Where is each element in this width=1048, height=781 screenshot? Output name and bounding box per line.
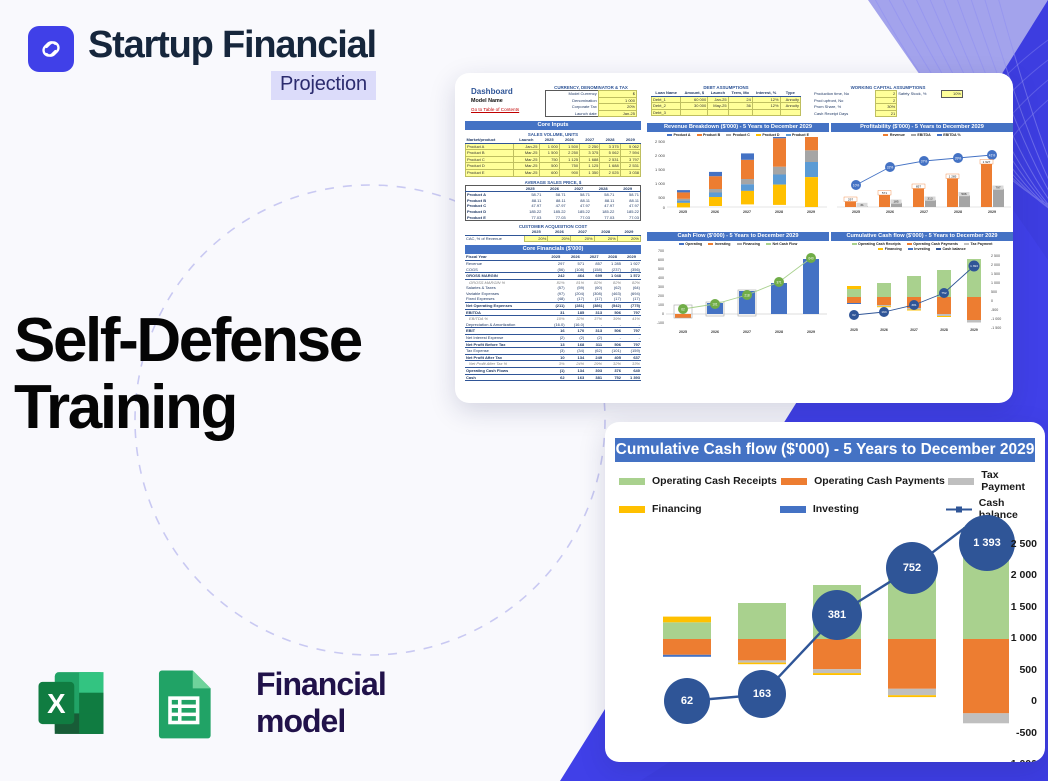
table-row: Product E 77.03 77.03 77.03 77.03 77.03 (466, 215, 641, 221)
chart-title: Cumulative Cash flow ($'000) - 5 Years t… (615, 438, 1035, 462)
svg-text:1 000: 1 000 (991, 281, 1000, 285)
cash-flow-title: Cash Flow ($'000) - 5 Years to December … (647, 232, 829, 241)
svg-text:2027: 2027 (743, 330, 751, 334)
table-row: Product D Mar-25 500 750 1 125 1 688 2 5… (466, 163, 641, 170)
table-cell: 797 (622, 309, 641, 316)
row-label: GROSS MARGIN (465, 273, 546, 280)
legend-swatch (619, 478, 645, 485)
table-cell: 1 048 (603, 273, 622, 280)
svg-text:2029: 2029 (807, 210, 815, 214)
brand-lockup: Startup Financial Projection (28, 26, 376, 100)
chart-plot-area: 62 163 381 752 1 393 2 500 2 000 1 500 1… (605, 527, 1045, 742)
svg-text:2 000: 2 000 (991, 263, 1000, 267)
svg-text:297: 297 (848, 197, 853, 201)
svg-text:2025: 2025 (679, 210, 687, 214)
table-row: Net Profit After Tax10134249405637 (465, 354, 641, 361)
microsoft-excel-icon: X (32, 664, 110, 742)
row-label: Net Profit After Tax % (465, 361, 546, 368)
row-label: Net Operating Expenses (465, 303, 546, 310)
table-cell: 405 (603, 354, 622, 361)
table-cell: (2) (566, 335, 586, 342)
table-cell: 31 (546, 309, 566, 316)
table-cell: 797 (622, 328, 641, 335)
table-cell: (2) (585, 335, 603, 342)
brand-title: Startup Financial (88, 26, 376, 64)
table-cell: (211) (546, 303, 566, 310)
table-cell: 313 (585, 328, 603, 335)
core-financials-table: Fiscal Year20252026202720282029Revenue29… (465, 254, 641, 381)
currency-assumptions-table: Model Currency$ Denomination1 000 Corpor… (545, 90, 637, 117)
table-cell: 16 (546, 328, 566, 335)
core-inputs-band: Core Inputs (465, 121, 641, 130)
svg-text:10%: 10% (853, 183, 860, 187)
bar-group-2025 (663, 617, 711, 657)
row-label: Net Interest Expense (465, 335, 546, 342)
table-cell: 699 (585, 273, 603, 280)
table-cell: 506 (603, 328, 622, 335)
left-content-column: Startup Financial Projection Self-Defens… (0, 0, 470, 781)
table-row: Model Currency$ (546, 91, 637, 98)
y-axis-labels: 2 500 2 000 1 500 1 000 500 0 -500 -1 00… (985, 527, 1039, 742)
core-financials-band: Core Financials ($'000) (465, 245, 641, 254)
svg-text:1 285: 1 285 (949, 174, 957, 178)
data-marker-2026: 163 (738, 670, 786, 718)
svg-text:1 500: 1 500 (991, 272, 1000, 276)
table-header-row: 2025 2026 2027 2028 2029 (466, 185, 641, 192)
table-cell: 32% (603, 361, 622, 368)
table-row: Tax Expense(3)(34)(62)(101)(159) (465, 348, 641, 355)
table-cell: 640 (622, 368, 641, 375)
table-cell: 10 (546, 354, 566, 361)
table-row: EBITDA31185313506797 (465, 309, 641, 316)
svg-text:700: 700 (658, 249, 664, 253)
svg-text:2 500: 2 500 (655, 139, 666, 144)
svg-text:300: 300 (658, 285, 664, 289)
working-capital-table: Production time, No 2 Safety Stock, % 10… (813, 90, 963, 117)
svg-text:0: 0 (663, 205, 666, 210)
format-label: Financial model (256, 666, 470, 740)
legend-item-financing: Financing (619, 497, 780, 521)
cumulative-cash-flow-card[interactable]: Cumulative Cash flow ($'000) - 5 Years t… (605, 422, 1045, 762)
cumulative-cash-flow-title: Cumulative Cash flow ($'000) - 5 Years t… (831, 232, 1013, 241)
svg-text:1 500: 1 500 (655, 167, 666, 172)
table-cell: (542) (603, 303, 622, 310)
row-label: Tax Expense (465, 348, 546, 355)
profitability-title: Profitability ($'000) - 5 Years to Decem… (831, 123, 1013, 132)
table-row: EBIT16170313506797 (465, 328, 641, 335)
svg-text:X: X (47, 688, 66, 719)
svg-text:37%: 37% (921, 159, 928, 163)
table-cell: (101) (603, 348, 622, 355)
svg-text:-1 500: -1 500 (991, 326, 1001, 330)
table-cell: 33% (622, 361, 641, 368)
e-loop-icon (36, 34, 66, 64)
legend-item-tax-payment: Tax Payment (948, 469, 1031, 493)
table-cell: 381 (585, 374, 603, 381)
profitability-chart: 10% 32% 37% 39% 41% 297 571 857 1 285 (831, 137, 1013, 215)
table-of-contents-link[interactable]: Go to Table of Contents (471, 107, 519, 112)
legend-item-operating-cash-receipts: Operating Cash Receipts (619, 469, 781, 493)
legend-swatch (619, 506, 645, 513)
svg-text:2028: 2028 (940, 328, 948, 332)
table-row: Launch dateJan-25 (546, 110, 637, 117)
cumulative-cash-flow-legend: Operating Cash Receipts Operating Cash P… (831, 242, 1013, 246)
svg-text:2027: 2027 (920, 210, 928, 214)
table-row: Operating Cash Flows(1)134303376640 (465, 368, 641, 375)
table-row: Net Profit After Tax %3%24%29%32%33% (465, 361, 641, 368)
dashboard-spreadsheet: Dashboard Model Name Go to Table of Cont… (461, 81, 1007, 395)
table-cell: 249 (585, 354, 603, 361)
legend-item: Operating Cash Payments (907, 242, 958, 246)
table-row: Cash Receipt Days 21 (813, 110, 963, 117)
table-cell: 311 (585, 341, 603, 348)
model-name-label: Model Name (471, 98, 503, 104)
svg-text:2027: 2027 (743, 210, 751, 214)
table-cell: 464 (566, 273, 586, 280)
table-row: Corporate Tax20% (546, 104, 637, 111)
headline-line-1: Self-Defense (14, 308, 361, 375)
table-cell: 752 (603, 374, 622, 381)
table-cell: - (603, 335, 622, 342)
format-badges: X Financial model (32, 664, 470, 742)
svg-text:2027: 2027 (910, 328, 918, 332)
table-cell: 3% (546, 361, 566, 368)
svg-text:62: 62 (681, 307, 685, 311)
svg-text:2028: 2028 (954, 210, 962, 214)
table-cell: (775) (622, 303, 641, 310)
table-cell: (3) (546, 348, 566, 355)
svg-text:1 000: 1 000 (655, 181, 666, 186)
table-cell: 376 (603, 368, 622, 375)
svg-text:39%: 39% (955, 156, 962, 160)
table-row: Prod upfront, No 2 (813, 97, 963, 104)
legend-swatch (781, 478, 807, 485)
table-row: Cash621633817521 393 (465, 374, 641, 381)
row-label: Cash (465, 374, 546, 381)
table-row: Debt_2 30 000 May-25 36 12% Annuity (652, 103, 801, 110)
svg-text:506: 506 (961, 192, 966, 196)
svg-text:200: 200 (658, 294, 664, 298)
svg-text:32%: 32% (887, 165, 894, 169)
revenue-breakdown-title: Revenue Breakdown ($'000) - 5 Years to D… (647, 123, 829, 132)
dashboard-heading: Dashboard (471, 87, 513, 96)
svg-text:2 000: 2 000 (655, 153, 666, 158)
svg-text:101: 101 (712, 302, 718, 306)
table-row: Debt_1 60 000 Jan-25 24 12% Annuity (652, 96, 801, 103)
table-row: Net Operating Expenses(211)(281)(386)(54… (465, 303, 641, 310)
svg-text:2029: 2029 (988, 210, 996, 214)
svg-text:400: 400 (658, 276, 664, 280)
average-price-table: 2025 2026 2027 2028 2029 Product A 58.71… (465, 185, 641, 222)
svg-text:500: 500 (991, 290, 997, 294)
table-cell: 303 (585, 368, 603, 375)
table-cell: 506 (603, 309, 622, 316)
svg-text:857: 857 (916, 184, 921, 188)
legend-swatch (948, 478, 974, 485)
google-sheets-icon (144, 664, 222, 742)
svg-text:2 500: 2 500 (991, 254, 1000, 258)
table-cell: 1 393 (622, 374, 641, 381)
svg-text:62: 62 (852, 313, 856, 317)
svg-text:2026: 2026 (880, 328, 888, 332)
svg-text:-1 000: -1 000 (991, 317, 1001, 321)
legend-item: Operating Cash Receipts (852, 242, 901, 246)
table-row: Product A Jan-25 1 000 1 500 2 250 3 375… (466, 143, 641, 150)
dashboard-preview-card[interactable]: Dashboard Model Name Go to Table of Cont… (455, 73, 1013, 403)
table-cell: (281) (566, 303, 586, 310)
table-cell: (34) (566, 348, 586, 355)
cumulative-cash-flow-mini-chart: 2 5002 0001 500 1 0005000 -500-1 000-1 5… (831, 251, 1013, 333)
svg-text:2026: 2026 (711, 210, 719, 214)
svg-text:500: 500 (658, 267, 664, 271)
svg-text:218: 218 (744, 293, 750, 297)
page-title: Self-Defense Training (14, 308, 361, 442)
revenue-breakdown-chart: 2 5002 0001 500 1 0005000 (647, 137, 829, 215)
svg-text:-500: -500 (991, 308, 998, 312)
table-cell: 13 (546, 341, 566, 348)
table-cell: (1) (546, 368, 566, 375)
svg-text:2025: 2025 (850, 328, 858, 332)
svg-text:2026: 2026 (711, 330, 719, 334)
table-cell: 1 572 (622, 273, 641, 280)
table-cell: 242 (546, 273, 566, 280)
svg-text:100: 100 (658, 303, 664, 307)
svg-text:600: 600 (658, 258, 664, 262)
table-cell: 134 (566, 368, 586, 375)
cac-table: 2025 2026 2027 2028 2029 CAC, % of Reven… (465, 229, 641, 242)
svg-text:1 393: 1 393 (970, 264, 978, 268)
table-cell: 163 (566, 374, 586, 381)
row-label: EBIT (465, 328, 546, 335)
table-cell: (2) (546, 335, 566, 342)
svg-text:2028: 2028 (775, 210, 783, 214)
logo-mark (28, 26, 74, 72)
bar-group-2026 (738, 603, 786, 664)
debt-assumptions-table: Loan Name Amount, $ Launch Term, Mo Inte… (651, 90, 801, 116)
table-row: Net Profit Before Tax13168311506797 (465, 341, 641, 348)
table-cell: 506 (603, 341, 622, 348)
svg-text:752: 752 (941, 291, 946, 295)
svg-text:2029: 2029 (807, 330, 815, 334)
table-cell: 170 (566, 328, 586, 335)
brand-subtitle: Projection (271, 71, 376, 100)
sales-volume-table: Market/product Launch 2025 2026 2027 202… (465, 137, 641, 177)
table-row: Prom Share, % 30% (813, 104, 963, 111)
legend-line-marker (946, 506, 972, 513)
cash-flow-chart: 700600500 400300200 1000-100 (647, 246, 829, 336)
legend-item-operating-cash-payments: Operating Cash Payments (781, 469, 948, 493)
table-row: Production time, No 2 Safety Stock, % 10… (813, 91, 963, 98)
table-cell: 62 (546, 374, 566, 381)
table-cell: (386) (585, 303, 603, 310)
table-row: Debt_3 (652, 109, 801, 116)
row-label: EBITDA (465, 309, 546, 316)
table-cell: 24% (566, 361, 586, 368)
table-cell: 29% (585, 361, 603, 368)
table-cell: 168 (566, 341, 586, 348)
row-label: Operating Cash Flows (465, 368, 546, 375)
data-marker-2028: 752 (886, 542, 938, 594)
svg-text:31: 31 (860, 203, 864, 207)
legend-item: Tax Payment (964, 242, 992, 246)
svg-text:0: 0 (991, 299, 993, 303)
table-row: GROSS MARGIN2424646991 0481 572 (465, 273, 641, 280)
table-cell: (62) (585, 348, 603, 355)
row-label: Net Profit After Tax (465, 354, 546, 361)
data-marker-2027: 381 (812, 590, 862, 640)
svg-text:163: 163 (881, 310, 886, 314)
table-row: Net Interest Expense(2)(2)(2)-- (465, 335, 641, 342)
svg-text:2026: 2026 (886, 210, 894, 214)
table-cell: 313 (585, 309, 603, 316)
svg-text:571: 571 (882, 191, 887, 195)
table-row: CAC, % of Revenue 20% 20% 20% 20% 20% (465, 235, 641, 242)
svg-text:41%: 41% (989, 153, 996, 157)
table-row: Product C Mar-25 750 1 125 1 688 2 531 3… (466, 156, 641, 163)
svg-text:2029: 2029 (970, 328, 978, 332)
row-label: Net Profit Before Tax (465, 341, 546, 348)
data-marker-2025: 62 (664, 678, 710, 724)
table-header-row: Market/product Launch 2025 2026 2027 202… (466, 137, 641, 143)
svg-text:1 927: 1 927 (983, 160, 991, 164)
headline-line-2: Training (14, 375, 361, 442)
table-cell: 134 (566, 354, 586, 361)
table-row: Denomination1 000 (546, 97, 637, 104)
legend-item-investing: Investing (780, 497, 946, 521)
svg-text:371: 371 (776, 280, 782, 284)
table-cell: - (622, 335, 641, 342)
svg-text:381: 381 (911, 303, 916, 307)
svg-text:313: 313 (927, 197, 932, 201)
chart-legend: Operating Cash Receipts Operating Cash P… (619, 469, 1031, 521)
svg-text:500: 500 (658, 195, 665, 200)
table-cell: (159) (622, 348, 641, 355)
table-cell: 637 (622, 354, 641, 361)
table-cell: 185 (566, 309, 586, 316)
table-row: Product B Mar-25 1 500 2 250 3 375 5 062… (466, 150, 641, 157)
svg-text:2025: 2025 (679, 330, 687, 334)
svg-text:-100: -100 (657, 321, 664, 325)
svg-text:2025: 2025 (852, 210, 860, 214)
table-row: Product E Mar-25 600 900 1 350 2 025 3 0… (466, 169, 641, 176)
table-cell: 797 (622, 341, 641, 348)
svg-text:0: 0 (662, 312, 664, 316)
svg-text:185: 185 (893, 200, 898, 204)
svg-text:640: 640 (808, 256, 814, 260)
svg-text:797: 797 (995, 186, 1000, 190)
currency-block-caption: CURRENCY, DENOMINATOR & TAX (545, 85, 637, 90)
svg-text:2028: 2028 (775, 330, 783, 334)
legend-swatch (780, 506, 806, 513)
